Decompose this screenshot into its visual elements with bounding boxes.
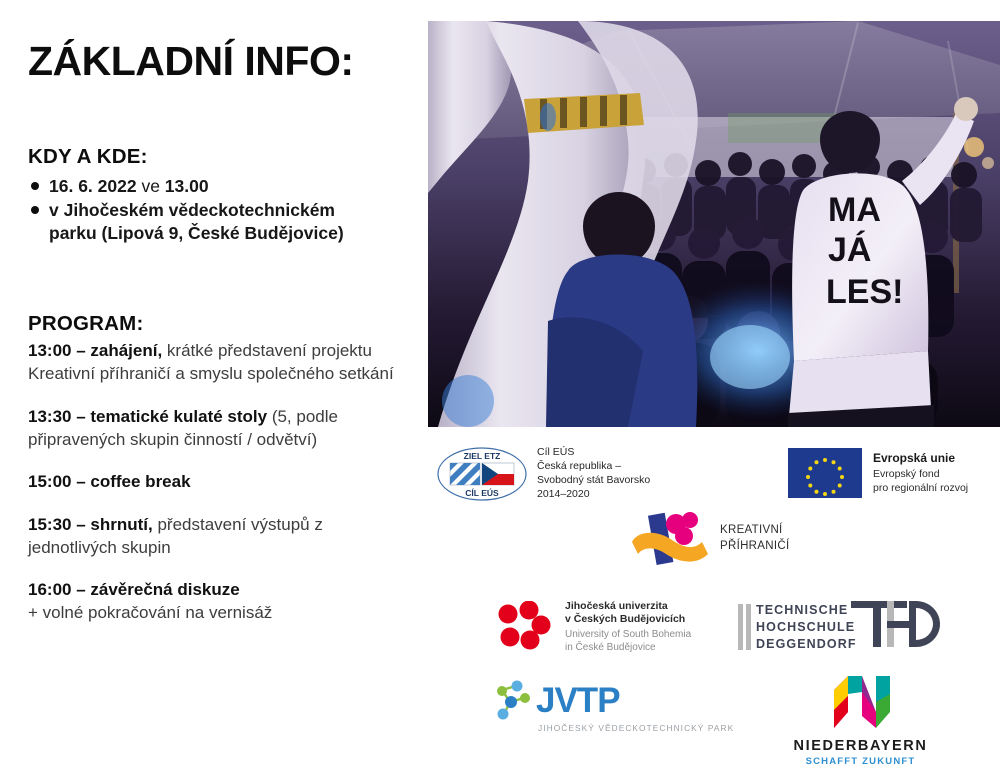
- event-venue-line1: v Jihočeském vědeckotechnickém: [49, 200, 335, 220]
- event-time: 13.00: [165, 176, 209, 196]
- kp-line-1: KREATIVNÍ: [720, 523, 789, 539]
- jcu-caption: Jihočeská univerzita v Českých Budějovic…: [565, 600, 691, 654]
- when-where-section: KDY A KDE: 16. 6. 2022 ve 13.00 v Jihoče…: [28, 145, 408, 245]
- event-date: 16. 6. 2022: [49, 176, 137, 196]
- thd-monogram-icon: [851, 599, 947, 651]
- program-list: 13:00 – zahájení, krátké představení pro…: [28, 340, 413, 624]
- svg-text:JÁ: JÁ: [828, 231, 871, 269]
- logo-strip: ZIEL ETZ CÍL EÚS Cíl EÚS Česká republika…: [428, 432, 1000, 749]
- program-dash: –: [71, 341, 90, 360]
- when-where-heading: KDY A KDE:: [28, 145, 408, 169]
- logo-niederbayern: NIEDERBAYERN SCHAFFT ZUKUNFT: [793, 672, 928, 767]
- usb-rose-icon: [496, 601, 554, 653]
- program-time: 16:00: [28, 580, 71, 599]
- thd-wordmark: TECHNISCHE HOCHSCHULE DEGGENDORF: [756, 602, 857, 653]
- logo-ziel-etz: ZIEL ETZ CÍL EÚS Cíl EÚS Česká republika…: [436, 446, 650, 502]
- program-time: 15:00: [28, 472, 71, 491]
- program-dash: –: [71, 407, 90, 426]
- program-dash: –: [71, 472, 90, 491]
- jcu-en-line-1: University of South Bohemia: [565, 629, 691, 642]
- program-label: zahájení,: [90, 341, 162, 360]
- niederbayern-claim: SCHAFFT ZUKUNFT: [793, 756, 928, 767]
- program-dash: –: [71, 580, 90, 599]
- page-title: ZÁKLADNÍ INFO:: [28, 38, 354, 85]
- etz-caption: Cíl EÚS Česká republika – Svobodný stát …: [537, 446, 650, 501]
- logo-jvtp: JVTP JIHOČESKÝ VĚDECKOTECHNICKÝ PARK: [490, 680, 734, 733]
- jvtp-molecule-icon: [490, 680, 534, 722]
- program-item: 15:00 – coffee break: [28, 471, 413, 494]
- text-column: ZÁKLADNÍ INFO: KDY A KDE: 16. 6. 2022 ve…: [0, 0, 425, 749]
- program-item: 13:30 – tematické kulaté stoly (5, podle…: [28, 406, 413, 451]
- program-dash: –: [71, 515, 90, 534]
- kreativni-prihranici-icon: [628, 508, 714, 570]
- program-label: tematické kulaté stoly: [90, 407, 267, 426]
- logo-thd: TECHNISCHE HOCHSCHULE DEGGENDORF: [738, 602, 947, 653]
- kp-line-2: PŘÍHRANIČÍ: [720, 539, 789, 555]
- program-extra-line: + volné pokračování na vernisáž: [28, 603, 272, 622]
- ziel-etz-top-label: ZIEL ETZ: [464, 451, 501, 461]
- eu-caption: Evropská unie Evropský fond pro regionál…: [873, 451, 968, 495]
- program-label: závěrečná diskuze: [90, 580, 239, 599]
- eu-sub-line-1: Evropský fond: [873, 468, 968, 482]
- svg-text:MA: MA: [828, 191, 881, 229]
- logo-european-union: Evropská unie Evropský fond pro regionál…: [788, 448, 968, 498]
- logo-kreativni-prihranici: KREATIVNÍ PŘÍHRANIČÍ: [628, 508, 789, 570]
- event-venue-line2: parku (Lipová 9, České Budějovice): [49, 223, 344, 243]
- program-time: 13:30: [28, 407, 71, 426]
- event-photo-illustration: MA JÁ LES!: [428, 21, 1000, 427]
- eu-title: Evropská unie: [873, 451, 968, 465]
- program-section: PROGRAM: 13:00 – zahájení, krátké předst…: [28, 312, 413, 644]
- niederbayern-n-icon: [818, 672, 904, 730]
- program-heading: PROGRAM:: [28, 312, 413, 336]
- jvtp-acronym: JVTP: [536, 684, 620, 717]
- event-photo: MA JÁ LES!: [428, 21, 1000, 427]
- thd-line-3: DEGGENDORF: [756, 636, 857, 653]
- program-item: 15:30 – shrnutí, představení výstupů z j…: [28, 514, 413, 559]
- when-where-list: 16. 6. 2022 ve 13.00 v Jihočeském vědeck…: [28, 175, 408, 244]
- kreativni-prihranici-caption: KREATIVNÍ PŘÍHRANIČÍ: [720, 523, 789, 554]
- program-time: 15:30: [28, 515, 71, 534]
- program-item: 13:00 – zahájení, krátké představení pro…: [28, 340, 413, 385]
- etz-line-4: 2014–2020: [537, 488, 650, 502]
- program-label: shrnutí,: [90, 515, 152, 534]
- etz-line-3: Svobodný stát Bavorsko: [537, 474, 650, 488]
- thd-bars-icon: [738, 604, 752, 650]
- ziel-etz-bottom-label: CÍL EÚS: [465, 487, 499, 498]
- eu-sub-line-2: pro regionální rozvoj: [873, 482, 968, 496]
- list-item: v Jihočeském vědeckotechnickém parku (Li…: [28, 199, 408, 245]
- list-item: 16. 6. 2022 ve 13.00: [28, 175, 408, 198]
- etz-line-1: Cíl EÚS: [537, 446, 650, 460]
- jcu-en-line-2: in České Budějovice: [565, 642, 691, 655]
- etz-line-2: Česká republika –: [537, 460, 650, 474]
- program-time: 13:00: [28, 341, 71, 360]
- event-time-connector: ve: [137, 176, 165, 196]
- svg-text:LES!: LES!: [826, 273, 903, 311]
- logo-jihoceska-univerzita: Jihočeská univerzita v Českých Budějovic…: [496, 600, 691, 654]
- ziel-etz-icon: ZIEL ETZ CÍL EÚS: [436, 446, 528, 502]
- program-item: 16:00 – závěrečná diskuze + volné pokrač…: [28, 579, 413, 624]
- jcu-cz-line-2: v Českých Budějovicích: [565, 613, 691, 626]
- thd-line-2: HOCHSCHULE: [756, 619, 857, 636]
- jvtp-subtitle: JIHOČESKÝ VĚDECKOTECHNICKÝ PARK: [538, 723, 734, 733]
- jcu-cz-line-1: Jihočeská univerzita: [565, 600, 691, 613]
- program-label: coffee break: [90, 472, 190, 491]
- eu-flag-icon: [788, 448, 862, 498]
- niederbayern-name: NIEDERBAYERN: [793, 738, 928, 754]
- thd-line-1: TECHNISCHE: [756, 602, 857, 619]
